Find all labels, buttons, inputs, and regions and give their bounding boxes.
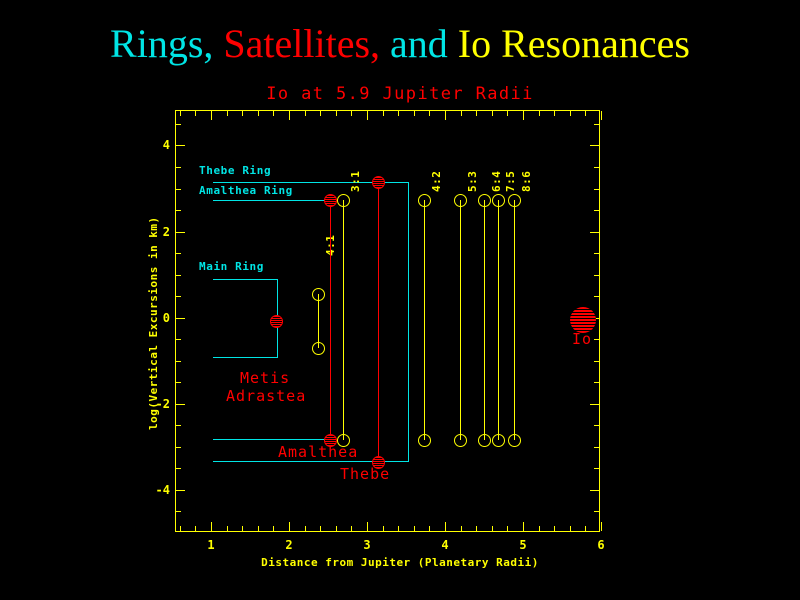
resonance-stem-3-1 bbox=[343, 200, 344, 440]
x-tick-minor bbox=[398, 526, 399, 531]
x-tick-minor-top bbox=[242, 111, 243, 116]
y-tick-minor bbox=[176, 339, 181, 340]
x-tick-minor bbox=[242, 526, 243, 531]
y-tick-major bbox=[176, 145, 185, 146]
y-tick-minor bbox=[176, 167, 181, 168]
resonance-stem-5-3 bbox=[460, 200, 461, 440]
x-tick-minor-top bbox=[195, 111, 196, 116]
x-tick-minor bbox=[585, 526, 586, 531]
x-tick-label: 3 bbox=[355, 538, 379, 552]
moon-stem-thebe bbox=[378, 182, 379, 462]
x-tick-minor-top bbox=[461, 111, 462, 116]
x-tick-minor bbox=[414, 526, 415, 531]
x-tick-minor-top bbox=[258, 111, 259, 116]
y-tick-minor-right bbox=[594, 189, 599, 190]
resonance-stem-7-5 bbox=[498, 200, 499, 440]
ring-label-main: Main Ring bbox=[199, 260, 264, 273]
resonance-marker-bottom-4-1 bbox=[312, 342, 325, 355]
x-tick-minor-top bbox=[273, 111, 274, 116]
resonance-marker-top-3-1 bbox=[337, 194, 350, 207]
x-tick-minor bbox=[305, 526, 306, 531]
x-tick-minor-top bbox=[336, 111, 337, 116]
resonance-marker-top-5-3 bbox=[454, 194, 467, 207]
x-tick-minor bbox=[383, 526, 384, 531]
x-tick-major bbox=[601, 522, 602, 531]
y-tick-major-right bbox=[590, 232, 599, 233]
x-tick-major-top bbox=[211, 111, 212, 120]
x-tick-minor bbox=[320, 526, 321, 531]
title-part-rings: Rings, bbox=[110, 21, 223, 66]
resonance-label-5-3: 5:3 bbox=[466, 171, 479, 192]
resonance-stem-4-1 bbox=[318, 294, 319, 348]
resonance-label-3-1: 3:1 bbox=[349, 171, 362, 192]
x-tick-minor-top bbox=[383, 111, 384, 116]
title-part-and: and bbox=[390, 21, 458, 66]
x-tick-label: 1 bbox=[199, 538, 223, 552]
y-tick-major bbox=[176, 490, 185, 491]
x-tick-minor bbox=[273, 526, 274, 531]
resonance-marker-top-7-5 bbox=[492, 194, 505, 207]
x-tick-minor-top bbox=[507, 111, 508, 116]
x-tick-major-top bbox=[445, 111, 446, 120]
resonance-marker-top-8-6 bbox=[508, 194, 521, 207]
moon-marker-top-thebe bbox=[372, 176, 385, 189]
resonance-stem-4-2 bbox=[424, 200, 425, 440]
x-tick-label: 5 bbox=[511, 538, 535, 552]
y-tick-label: -4 bbox=[146, 483, 170, 497]
y-tick-minor-right bbox=[594, 253, 599, 254]
y-tick-minor-right bbox=[594, 296, 599, 297]
y-tick-major bbox=[176, 404, 185, 405]
y-tick-minor-right bbox=[594, 124, 599, 125]
y-tick-minor bbox=[176, 361, 181, 362]
y-tick-minor bbox=[176, 447, 181, 448]
x-tick-minor bbox=[492, 526, 493, 531]
x-tick-minor-top bbox=[554, 111, 555, 116]
x-tick-minor-top bbox=[570, 111, 571, 116]
x-tick-minor bbox=[227, 526, 228, 531]
y-tick-minor bbox=[176, 210, 181, 211]
ring-label-amalthea: Amalthea Ring bbox=[199, 184, 293, 197]
ring-label-thebe: Thebe Ring bbox=[199, 164, 271, 177]
resonance-label-4-2: 4:2 bbox=[430, 171, 443, 192]
resonance-marker-top-6-4 bbox=[478, 194, 491, 207]
x-tick-minor bbox=[195, 526, 196, 531]
y-tick-minor-right bbox=[594, 511, 599, 512]
x-tick-minor bbox=[570, 526, 571, 531]
x-tick-minor-top bbox=[414, 111, 415, 116]
y-tick-minor bbox=[176, 296, 181, 297]
resonance-stem-8-6 bbox=[514, 200, 515, 440]
x-tick-minor-top bbox=[227, 111, 228, 116]
moon-label-thebe: Thebe bbox=[340, 465, 390, 483]
moon-label-amalthea: Amalthea bbox=[278, 443, 358, 461]
x-tick-major-top bbox=[523, 111, 524, 120]
resonance-marker-bottom-8-6 bbox=[508, 434, 521, 447]
title-part-satellites: Satellites, bbox=[223, 21, 390, 66]
x-axis-title: Distance from Jupiter (Planetary Radii) bbox=[0, 556, 800, 569]
y-tick-minor bbox=[176, 468, 181, 469]
resonance-marker-bottom-5-3 bbox=[454, 434, 467, 447]
resonance-label-8-6: 8:6 bbox=[520, 171, 533, 192]
y-tick-minor-right bbox=[594, 167, 599, 168]
resonance-marker-top-4-2 bbox=[418, 194, 431, 207]
x-tick-minor-top bbox=[585, 111, 586, 116]
y-tick-major bbox=[176, 318, 185, 319]
x-tick-minor-top bbox=[429, 111, 430, 116]
x-tick-minor bbox=[351, 526, 352, 531]
moon-marker-metis-adrastea bbox=[270, 315, 283, 328]
x-tick-minor-top bbox=[398, 111, 399, 116]
moon-marker-top-amalthea bbox=[324, 194, 337, 207]
x-tick-major bbox=[289, 522, 290, 531]
resonance-marker-top-4-1 bbox=[312, 288, 325, 301]
x-tick-label: 6 bbox=[589, 538, 613, 552]
x-tick-major-top bbox=[367, 111, 368, 120]
page-subtitle: Io at 5.9 Jupiter Radii bbox=[0, 84, 800, 104]
y-tick-label: 4 bbox=[146, 138, 170, 152]
slide-canvas: Rings, Satellites, and Io Resonances Io … bbox=[0, 0, 800, 600]
y-tick-minor bbox=[176, 124, 181, 125]
x-tick-minor-top bbox=[492, 111, 493, 116]
x-tick-minor bbox=[554, 526, 555, 531]
y-tick-label: -2 bbox=[146, 397, 170, 411]
x-tick-minor-top bbox=[476, 111, 477, 116]
y-tick-minor bbox=[176, 511, 181, 512]
y-tick-minor-right bbox=[594, 468, 599, 469]
x-tick-minor bbox=[539, 526, 540, 531]
x-tick-minor bbox=[476, 526, 477, 531]
moon-label-adrastea: Adrastea bbox=[226, 387, 306, 405]
resonance-stem-6-4 bbox=[484, 200, 485, 440]
moon-stem-amalthea bbox=[330, 200, 331, 440]
x-tick-minor-top bbox=[539, 111, 540, 116]
x-tick-major bbox=[367, 522, 368, 531]
resonance-marker-bottom-6-4 bbox=[478, 434, 491, 447]
y-tick-label: 2 bbox=[146, 225, 170, 239]
y-tick-minor bbox=[176, 189, 181, 190]
resonance-label-7-5: 7:5 bbox=[504, 171, 517, 192]
moon-label-io: Io bbox=[572, 330, 592, 348]
resonance-marker-bottom-7-5 bbox=[492, 434, 505, 447]
y-tick-major-right bbox=[590, 490, 599, 491]
title-part-resonances: Io Resonances bbox=[458, 21, 690, 66]
y-tick-minor bbox=[176, 425, 181, 426]
y-tick-minor-right bbox=[594, 210, 599, 211]
x-tick-minor bbox=[180, 526, 181, 531]
x-tick-minor bbox=[429, 526, 430, 531]
y-tick-minor bbox=[176, 382, 181, 383]
x-tick-minor bbox=[461, 526, 462, 531]
x-tick-major bbox=[211, 522, 212, 531]
y-tick-label: 0 bbox=[146, 311, 170, 325]
x-tick-minor-top bbox=[180, 111, 181, 116]
y-tick-major bbox=[176, 232, 185, 233]
y-tick-minor-right bbox=[594, 382, 599, 383]
y-tick-minor-right bbox=[594, 361, 599, 362]
resonance-marker-bottom-4-2 bbox=[418, 434, 431, 447]
y-tick-minor bbox=[176, 253, 181, 254]
y-tick-minor bbox=[176, 275, 181, 276]
x-tick-major-top bbox=[601, 111, 602, 120]
y-tick-major-right bbox=[590, 145, 599, 146]
x-tick-label: 4 bbox=[433, 538, 457, 552]
moon-label-metis: Metis bbox=[240, 369, 290, 387]
x-tick-major bbox=[445, 522, 446, 531]
x-tick-label: 2 bbox=[277, 538, 301, 552]
y-tick-minor-right bbox=[594, 339, 599, 340]
y-tick-minor-right bbox=[594, 275, 599, 276]
x-tick-minor-top bbox=[351, 111, 352, 116]
x-tick-minor bbox=[336, 526, 337, 531]
x-tick-minor-top bbox=[320, 111, 321, 116]
x-tick-minor bbox=[258, 526, 259, 531]
x-tick-minor bbox=[507, 526, 508, 531]
page-title: Rings, Satellites, and Io Resonances bbox=[0, 22, 800, 66]
x-tick-minor-top bbox=[305, 111, 306, 116]
x-tick-major bbox=[523, 522, 524, 531]
ring-box-main bbox=[213, 279, 278, 358]
x-tick-major-top bbox=[289, 111, 290, 120]
y-tick-major-right bbox=[590, 404, 599, 405]
y-tick-minor-right bbox=[594, 425, 599, 426]
y-tick-minor-right bbox=[594, 447, 599, 448]
resonance-label-6-4: 6:4 bbox=[490, 171, 503, 192]
